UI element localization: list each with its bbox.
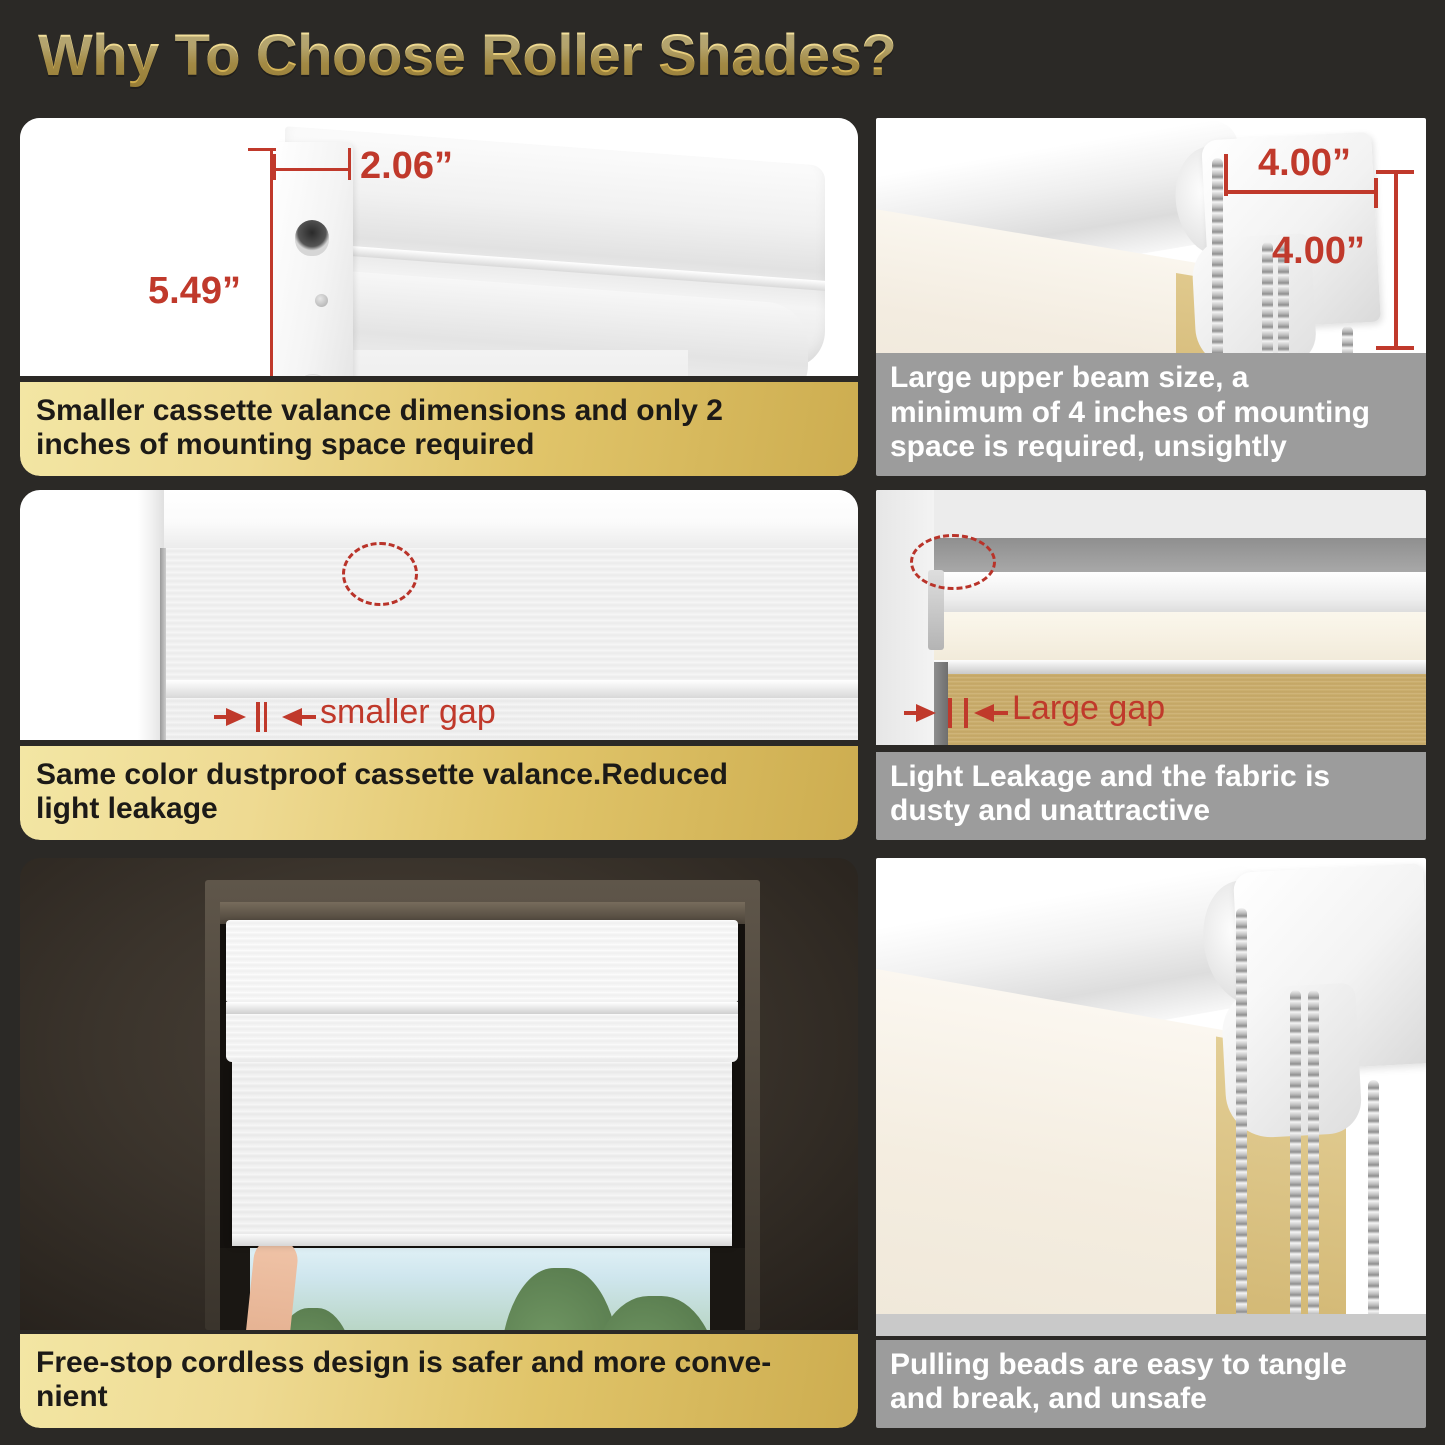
- caption-cordless-design: Free-stop cordless design is safer and m…: [20, 1334, 858, 1428]
- panel-cordless-design: Free-stop cordless design is safer and m…: [20, 858, 858, 1428]
- height-dimension-tick-top: [248, 148, 276, 151]
- caption-dustproof-valance: Same color dustproof cassette valance.Re…: [20, 746, 858, 840]
- cassette-valance: [226, 920, 738, 1002]
- caption-line: space is required, unsightly: [890, 430, 1412, 464]
- bead-chain-1: [1212, 158, 1223, 376]
- caption-line: Light Leakage and the fabric is: [890, 760, 1412, 794]
- bead-chain-2: [1290, 990, 1301, 1318]
- width-dimension-tick-right: [348, 148, 351, 180]
- panel-pulling-beads: Pulling beads are easy to tangle and bre…: [876, 858, 1426, 1428]
- caption-pulling-beads: Pulling beads are easy to tangle and bre…: [876, 1340, 1426, 1428]
- caption-line: and break, and unsafe: [890, 1382, 1412, 1416]
- height-dimension-line: [270, 148, 273, 376]
- gap-marker-line: [948, 698, 952, 728]
- tree-right: [500, 1268, 620, 1330]
- caption-line: minimum of 4 inches of mounting: [890, 396, 1412, 430]
- valance-illustration: 2.06” 5.49”: [20, 118, 858, 376]
- shade-lower-section: [164, 698, 858, 740]
- gap-callout-label: smaller gap: [320, 693, 496, 732]
- width-dimension-tick-left: [273, 154, 276, 180]
- caption-line: Pulling beads are easy to tangle: [890, 1348, 1412, 1382]
- caption-line: light leakage: [36, 792, 842, 826]
- valance-lip: [934, 660, 1426, 674]
- roller-fabric-front: [876, 962, 1246, 1336]
- bead-chain-3: [1308, 990, 1319, 1318]
- floor-shadow: [876, 1314, 1426, 1336]
- upper-shadow-band: [934, 538, 1426, 572]
- window-head-trim: [138, 490, 858, 548]
- caption-line: Smaller cassette valance dimensions and …: [36, 394, 842, 428]
- gap-callout-label: Large gap: [1012, 689, 1165, 728]
- valance-lower: [226, 1014, 738, 1062]
- panel-light-leakage: Large gap Light Leakage and the fabric i…: [876, 490, 1426, 840]
- caption-line: Same color dustproof cassette valance.Re…: [36, 758, 842, 792]
- page-title: Why To Choose Roller Shades?: [38, 22, 896, 89]
- arrow-left-tail: [300, 715, 316, 719]
- cordless-design-photo: [20, 858, 858, 1330]
- caption-cassette-valance: Smaller cassette valance dimensions and …: [20, 382, 858, 476]
- recess-shadow-left: [220, 1248, 250, 1330]
- width-dimension-line: [273, 168, 351, 171]
- window-glass: [250, 1248, 710, 1330]
- valance-rail: [226, 1002, 738, 1014]
- bead-chain-4: [1368, 1080, 1379, 1318]
- shade-hem-bar: [232, 1234, 732, 1246]
- width-dimension-tick-right: [1374, 178, 1378, 208]
- height-dimension-tick-bottom: [1376, 346, 1414, 350]
- shade-left-edge: [934, 662, 948, 745]
- arrow-right-tail: [214, 715, 230, 719]
- height-dimension-tick-top: [1376, 170, 1414, 174]
- gap-marker-line-2: [964, 698, 968, 728]
- height-dimension-line: [1394, 170, 1398, 348]
- valance-body: [934, 612, 1426, 664]
- infographic-page: Why To Choose Roller Shades? 2.06”: [0, 0, 1445, 1445]
- shade-upper-section: [164, 548, 858, 688]
- caption-line: inches of mounting space required: [36, 428, 842, 462]
- arrow-left-tail: [992, 711, 1008, 715]
- light-leakage-photo: Large gap: [876, 490, 1426, 745]
- width-dimension-label: 4.00”: [1258, 142, 1351, 185]
- valance-slot: [295, 220, 329, 256]
- panel-large-upper-beam: 4.00” 4.00” Large upper beam size, a min…: [876, 118, 1426, 476]
- height-dimension-label: 5.49”: [148, 270, 241, 313]
- shade-middle-rail: [164, 680, 858, 698]
- dustproof-valance-photo: smaller gap: [20, 490, 858, 740]
- highlight-circle-icon: [910, 534, 996, 590]
- width-dimension-line: [1224, 190, 1376, 194]
- highlight-circle-icon: [342, 542, 418, 606]
- shade-left-edge: [160, 548, 166, 740]
- width-dimension-label: 2.06”: [360, 145, 453, 188]
- height-dimension-label: 4.00”: [1272, 230, 1365, 273]
- large-beam-photo: 4.00” 4.00”: [876, 118, 1426, 376]
- gap-marker-line: [256, 702, 260, 732]
- recess-shadow-right: [710, 1248, 745, 1330]
- panel-cassette-valance: 2.06” 5.49” Smaller cassette valance dim…: [20, 118, 858, 476]
- cassette-valance-photo: 2.06” 5.49”: [20, 118, 858, 376]
- arrow-left-icon: [974, 704, 994, 722]
- pulling-beads-photo: [876, 858, 1426, 1336]
- caption-line: Large upper beam size, a: [890, 361, 1412, 395]
- caption-line: nient: [36, 1380, 842, 1414]
- shade-fabric: [232, 1062, 732, 1240]
- valance-knob: [295, 374, 331, 376]
- panel-dustproof-valance: smaller gap Same color dustproof cassett…: [20, 490, 858, 840]
- gap-marker-line-2: [264, 702, 267, 732]
- valance-screw: [315, 294, 328, 307]
- valance-end-cap: [273, 142, 353, 376]
- caption-line: dusty and unattractive: [890, 794, 1412, 828]
- bead-chain-1: [1236, 908, 1247, 1318]
- arrow-right-tail: [904, 711, 920, 715]
- width-dimension-tick-left: [1224, 154, 1228, 196]
- caption-line: Free-stop cordless design is safer and m…: [36, 1346, 842, 1380]
- caption-light-leakage: Light Leakage and the fabric is dusty an…: [876, 752, 1426, 840]
- caption-large-upper-beam: Large upper beam size, a minimum of 4 in…: [876, 353, 1426, 476]
- arrow-left-icon: [282, 708, 302, 726]
